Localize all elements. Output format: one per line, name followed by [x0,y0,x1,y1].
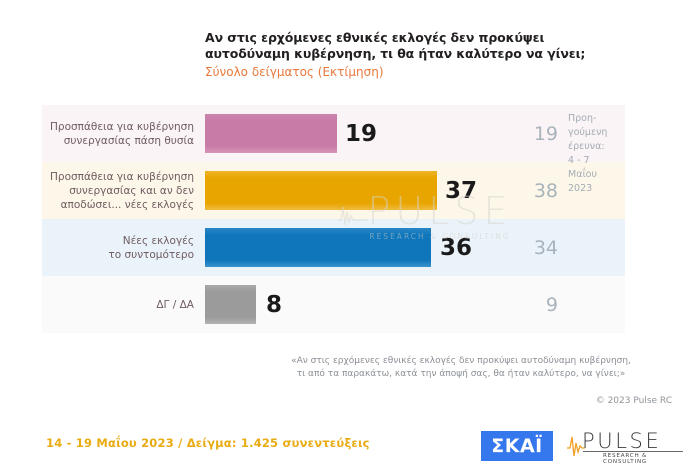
row-previous-value: 38 [500,162,558,219]
row-category-label: Προσπάθεια για κυβέρνηση συνεργασίας και… [42,162,202,219]
row-label-line2: συνεργασίας πάση θυσία [50,134,194,148]
bar-pink [205,114,337,153]
row-previous-value: 34 [500,219,558,276]
skai-logo: ΣΚΑΪ [481,431,553,461]
row-value: 37 [445,162,477,219]
prev-note-line1: Προη- [568,112,628,126]
row-label-line3: αποδώσει... νέες εκλογές [50,198,194,212]
poll-chart-infographic: Αν στις ερχόμενες εθνικές εκλογές δεν πρ… [0,0,700,475]
chart-header: Αν στις ερχόμενες εθνικές εκλογές δεν πρ… [205,30,635,80]
page-title-line2: αυτοδύναμη κυβέρνηση, τι θα ήταν καλύτερ… [205,46,635,62]
row-value: 8 [266,276,282,333]
chart-row: Νέες εκλογές το συντομότερο 36 34 [0,219,700,276]
bar-gold [205,171,437,210]
row-value: 19 [345,105,377,162]
row-label-line1: Προσπάθεια για κυβέρνηση [50,170,194,184]
row-category-label: Προσπάθεια για κυβέρνηση συνεργασίας πάσ… [42,105,202,162]
skai-logo-text: ΣΚΑΪ [491,437,542,456]
row-previous-value: 9 [500,276,558,333]
bar-grey [205,285,256,324]
row-previous-value: 19 [500,105,558,162]
row-label-line2: το συντομότερο [108,248,194,262]
copyright-text: © 2023 Pulse RC [0,396,672,406]
chart-subtitle: Σύνολο δείγματος (Εκτίμηση) [205,65,635,80]
previous-survey-note: Προη- γούμενη έρευνα: 4 - 7 Μαΐου 2023 [568,112,628,196]
footnote-line2: τι από τα παρακάτω, κατά την άποψή σας, … [265,368,657,381]
footnote-line1: «Αν στις ερχόμενες εθνικές εκλογές δεν π… [265,355,657,368]
row-category-label: Νέες εκλογές το συντομότερο [42,219,202,276]
pulse-logo-tagline: RESEARCH & CONSULTING [603,453,686,465]
bar-blue [205,228,431,267]
pulse-logo: PULSE RESEARCH & CONSULTING [566,429,686,463]
prev-note-line5: Μαΐου [568,168,628,182]
prev-note-line4: 4 - 7 [568,154,628,168]
footer-bar: 14 - 19 Μαΐου 2023 / Δείγμα: 1.425 συνεν… [0,428,700,475]
prev-note-line3: έρευνα: [568,140,628,154]
prev-note-line2: γούμενη [568,126,628,140]
row-label-line1: Προσπάθεια για κυβέρνηση [50,120,194,134]
chart-row: ΔΓ / ΔΑ 8 9 [0,276,700,333]
pulse-logo-rule [583,451,683,452]
fieldwork-dates-and-sample: 14 - 19 Μαΐου 2023 / Δείγμα: 1.425 συνεν… [46,436,370,450]
question-footnote: «Αν στις ερχόμενες εθνικές εκλογές δεν π… [265,355,657,381]
row-label-line1: Νέες εκλογές [108,234,194,248]
prev-note-line6: 2023 [568,182,628,196]
row-value: 36 [440,219,472,276]
row-label-line2: συνεργασίας και αν δεν [50,184,194,198]
row-label-line1: ΔΓ / ΔΑ [156,298,194,312]
pulse-logo-text: PULSE [582,430,661,452]
page-title-line1: Αν στις ερχόμενες εθνικές εκλογές δεν πρ… [205,30,635,46]
row-category-label: ΔΓ / ΔΑ [42,276,202,333]
